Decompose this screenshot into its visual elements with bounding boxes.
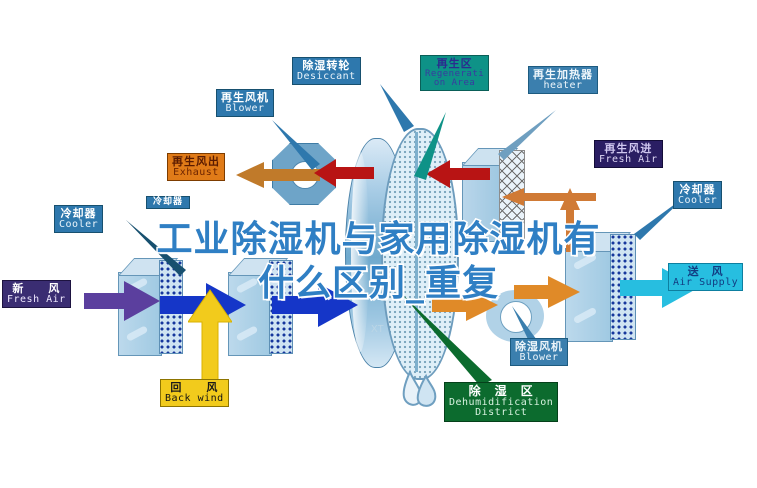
label-regeneration-area-en2: on Area [425,79,484,88]
arrow-back-wind-up [188,288,232,380]
label-regen-fresh-air-en: Fresh Air [599,155,658,166]
label-back-wind[interactable]: 回 风 Back wind [160,379,229,407]
label-back-wind-en: Back wind [165,394,224,405]
label-cooler-left[interactable]: 冷却器 Cooler [54,205,103,233]
label-regeneration-area[interactable]: 再生区 Regenerati on Area [420,55,489,91]
label-cooler-left-en: Cooler [59,220,98,231]
leader-cooler-left [120,216,200,286]
label-desiccant-wheel-cn: 除湿转轮 [297,60,356,72]
label-regen-heater[interactable]: 再生加热器 heater [528,66,598,94]
label-exhaust-en: Exhaust [172,168,220,179]
label-cooler-mid-cn: 冷却器 [153,198,183,207]
label-regen-blower-en: Blower [221,104,269,115]
dehumidifier-diagram: XT [0,0,757,488]
label-back-wind-cn: 回 风 [165,382,224,394]
label-regen-fresh-air-cn: 再生风进 [599,143,658,155]
label-exhaust-cn: 再生风出 [172,156,220,168]
label-fresh-air-left-cn: 新 风 [7,283,66,295]
label-dehum-blower[interactable]: 除湿风机 Blower [510,338,568,366]
label-fresh-air-left[interactable]: 新 风 Fresh Air [2,280,71,308]
label-regen-blower[interactable]: 再生风机 Blower [216,89,274,117]
label-regen-heater-cn: 再生加热器 [533,69,593,81]
label-cooler-mid[interactable]: 冷却器 [146,196,190,209]
label-cooler-right-cn: 冷却器 [678,184,717,196]
arrow-fresh-air-in [84,281,160,321]
leader-regen-blower [268,116,368,196]
label-cooler-left-cn: 冷却器 [59,208,98,220]
label-regeneration-area-cn: 再生区 [425,58,484,70]
label-air-supply-en: Air Supply [673,278,738,289]
leader-regeneration-area [398,110,468,200]
leader-heater [486,106,576,166]
label-cooler-right-en: Cooler [678,196,717,207]
watermark-text: XT [371,324,384,335]
arrow-process-air-2 [272,283,358,327]
label-cooler-right[interactable]: 冷却器 Cooler [673,181,722,209]
label-dehum-blower-en: Blower [515,353,563,364]
label-dehum-blower-cn: 除湿风机 [515,341,563,353]
label-desiccant-wheel-en: Desiccant [297,72,356,83]
label-desiccant-wheel[interactable]: 除湿转轮 Desiccant [292,57,361,85]
label-exhaust[interactable]: 再生风出 Exhaust [167,153,225,181]
arrow-regen-riser [560,186,580,252]
label-regen-fresh-air[interactable]: 再生风进 Fresh Air [594,140,663,168]
arrow-heater-in [500,188,596,206]
label-dehumidification-district[interactable]: 除 湿 区 Dehumidification District [444,382,558,422]
label-air-supply[interactable]: 送 风 Air Supply [668,263,743,291]
label-regen-blower-cn: 再生风机 [221,92,269,104]
label-regen-heater-en: heater [533,81,593,92]
label-dehum-district-en2: District [449,408,553,419]
label-air-supply-cn: 送 风 [673,266,738,278]
label-fresh-air-left-en: Fresh Air [7,295,66,306]
label-dehum-district-cn: 除 湿 区 [449,385,553,398]
